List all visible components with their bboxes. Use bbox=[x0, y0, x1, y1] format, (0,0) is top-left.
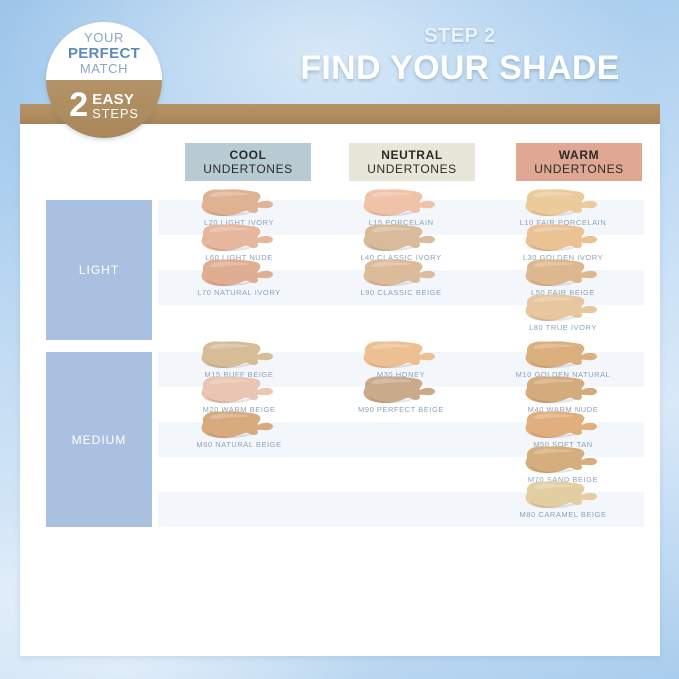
badge-easy-label: EASY bbox=[92, 92, 139, 107]
undertone-header-neutral[interactable]: NEUTRAL UNDERTONES bbox=[349, 143, 475, 181]
undertone-header-warm[interactable]: WARM UNDERTONES bbox=[516, 143, 642, 181]
foundation-swatch bbox=[520, 444, 606, 478]
shade-label: M60 NATURAL BEIGE bbox=[158, 440, 320, 449]
foundation-swatch bbox=[196, 187, 282, 221]
shade-label: L80 TRUE IVORY bbox=[482, 323, 644, 332]
foundation-swatch bbox=[358, 339, 444, 373]
foundation-swatch bbox=[358, 257, 444, 291]
undertone-subtitle-neutral: UNDERTONES bbox=[367, 162, 457, 176]
badge-top-half: YOUR PERFECT MATCH bbox=[46, 22, 162, 80]
shade-cell[interactable]: L80 TRUE IVORY bbox=[482, 305, 644, 340]
undertone-title-warm: WARM bbox=[559, 148, 599, 162]
foundation-swatch bbox=[520, 292, 606, 326]
foundation-swatch bbox=[196, 257, 282, 291]
foundation-swatch bbox=[358, 222, 444, 256]
foundation-swatch bbox=[520, 479, 606, 513]
undertone-header-cool[interactable]: COOL UNDERTONES bbox=[185, 143, 311, 181]
foundation-swatch bbox=[196, 339, 282, 373]
badge-line-match: MATCH bbox=[80, 62, 128, 77]
shade-label: M80 CARAMEL BEIGE bbox=[482, 510, 644, 519]
step-label: STEP 2 bbox=[250, 26, 670, 46]
shade-cell[interactable]: M90 PERFECT BEIGE bbox=[320, 387, 482, 422]
undertone-title-cool: COOL bbox=[229, 148, 266, 162]
shade-cell[interactable]: L90 CLASSIC BEIGE bbox=[320, 270, 482, 305]
foundation-swatch bbox=[196, 374, 282, 408]
shade-label: L90 CLASSIC BEIGE bbox=[320, 288, 482, 297]
badge-steps-label: STEPS bbox=[92, 107, 139, 120]
perfect-match-badge: YOUR PERFECT MATCH 2 EASY STEPS bbox=[46, 22, 162, 138]
shade-label: L70 NATURAL IVORY bbox=[158, 288, 320, 297]
foundation-swatch bbox=[520, 339, 606, 373]
badge-step-count: 2 bbox=[69, 91, 88, 120]
undertone-subtitle-warm: UNDERTONES bbox=[534, 162, 624, 176]
foundation-swatch bbox=[358, 374, 444, 408]
foundation-swatch bbox=[196, 409, 282, 443]
undertone-title-neutral: NEUTRAL bbox=[381, 148, 443, 162]
badge-line-your: YOUR bbox=[84, 31, 124, 46]
page-title: FIND YOUR SHADE bbox=[250, 51, 670, 85]
foundation-swatch bbox=[520, 222, 606, 256]
foundation-swatch bbox=[358, 187, 444, 221]
header-title-block: STEP 2 FIND YOUR SHADE bbox=[250, 26, 670, 85]
shade-cell[interactable]: M80 CARAMEL BEIGE bbox=[482, 492, 644, 527]
shade-cell[interactable]: L70 NATURAL IVORY bbox=[158, 270, 320, 305]
foundation-swatch bbox=[520, 257, 606, 291]
undertone-subtitle-cool: UNDERTONES bbox=[203, 162, 293, 176]
badge-bottom-half: 2 EASY STEPS bbox=[46, 80, 162, 138]
shade-label: M90 PERFECT BEIGE bbox=[320, 405, 482, 414]
shade-finder-infographic: STEP 2 FIND YOUR SHADE YOUR PERFECT MATC… bbox=[0, 0, 679, 679]
foundation-swatch bbox=[520, 409, 606, 443]
shade-cell[interactable]: M60 NATURAL BEIGE bbox=[158, 422, 320, 457]
foundation-swatch bbox=[520, 374, 606, 408]
foundation-swatch bbox=[196, 222, 282, 256]
depth-block-light[interactable]: LIGHT bbox=[46, 200, 152, 340]
badge-line-perfect: PERFECT bbox=[68, 46, 140, 63]
foundation-swatch bbox=[520, 187, 606, 221]
depth-block-medium[interactable]: MEDIUM bbox=[46, 352, 152, 527]
